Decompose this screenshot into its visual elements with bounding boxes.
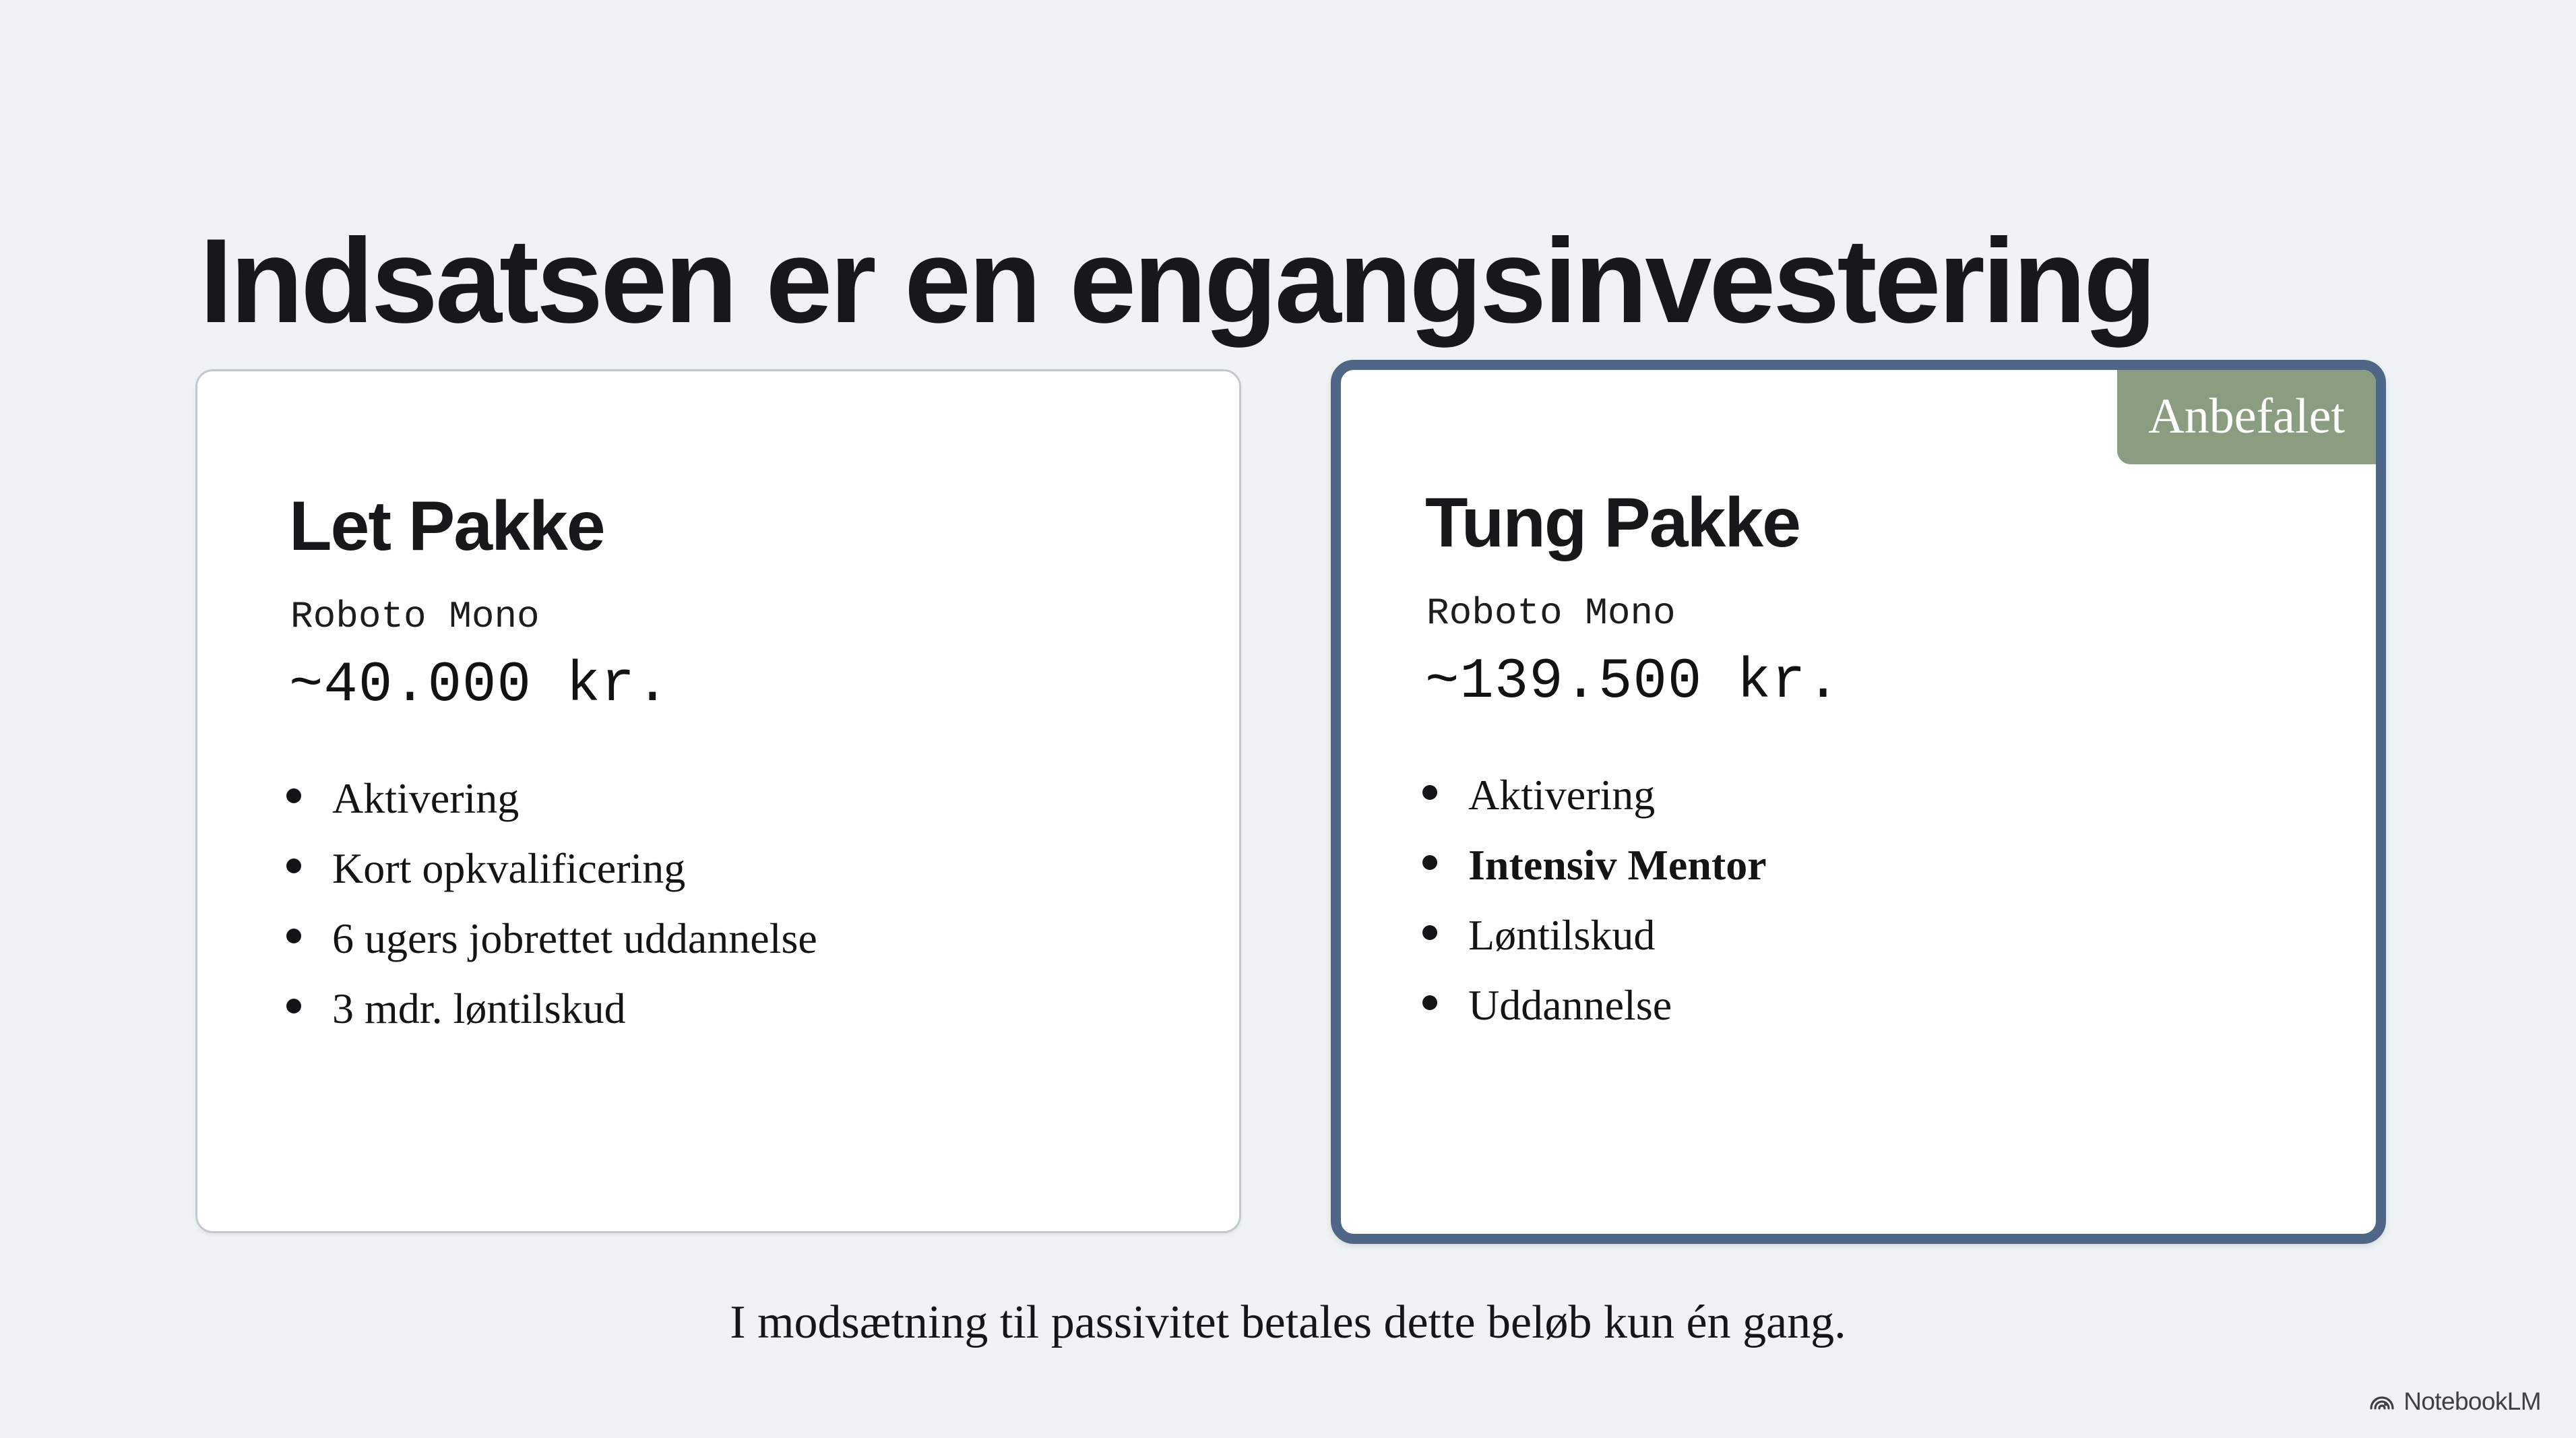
feature-label: Uddannelse <box>1468 984 1672 1027</box>
bullet-icon <box>286 999 301 1013</box>
pricing-card-tung-pakke[interactable]: Anbefalet Tung Pakke Roboto Mono ~139.50… <box>1331 360 2386 1244</box>
bullet-icon <box>286 929 301 943</box>
card-price: ~139.500 kr. <box>1425 654 1841 711</box>
bullet-icon <box>1422 785 1437 800</box>
list-item: Intensiv Mentor <box>1422 844 1767 887</box>
card-font-label: Roboto Mono <box>290 598 540 635</box>
card-price: ~40.000 kr. <box>289 658 670 714</box>
feature-label: Aktivering <box>332 777 519 820</box>
bullet-icon <box>286 858 301 873</box>
feature-label: 3 mdr. løntilskud <box>332 987 626 1030</box>
feature-label: Løntilskud <box>1468 914 1655 957</box>
list-item: Løntilskud <box>1422 914 1767 957</box>
footer-note: I modsætning til passivitet betales dett… <box>0 1299 2576 1346</box>
card-body: Tung Pakke Roboto Mono ~139.500 kr. Akti… <box>1341 370 2376 1234</box>
list-item: Aktivering <box>286 777 817 820</box>
watermark-label: NotebookLM <box>2404 1389 2541 1414</box>
feature-label: 6 ugers jobrettet uddannelse <box>332 917 817 960</box>
list-item: 3 mdr. løntilskud <box>286 987 817 1030</box>
feature-list: Aktivering Intensiv Mentor Løntilskud Ud… <box>1422 774 1767 1054</box>
slide-canvas: Indsatsen er en engangsinvestering Let P… <box>0 0 2576 1438</box>
list-item: 6 ugers jobrettet uddannelse <box>286 917 817 960</box>
bullet-icon <box>1422 855 1437 870</box>
feature-label: Kort opkvalificering <box>332 847 685 890</box>
notebooklm-watermark: NotebookLM <box>2369 1388 2541 1414</box>
list-item: Uddannelse <box>1422 984 1767 1027</box>
pricing-cards-row: Let Pakke Roboto Mono ~40.000 kr. Aktive… <box>0 0 2576 1438</box>
notebooklm-spiral-icon <box>2369 1388 2395 1414</box>
bullet-icon <box>286 788 301 803</box>
feature-label: Intensiv Mentor <box>1468 844 1767 887</box>
bullet-icon <box>1422 995 1437 1010</box>
feature-label: Aktivering <box>1468 774 1655 817</box>
card-body: Let Pakke Roboto Mono ~40.000 kr. Aktive… <box>197 371 1239 1231</box>
bullet-icon <box>1422 925 1437 940</box>
card-title: Let Pakke <box>289 491 604 561</box>
card-font-label: Roboto Mono <box>1426 594 1676 632</box>
feature-list: Aktivering Kort opkvalificering 6 ugers … <box>286 777 817 1057</box>
pricing-card-let-pakke[interactable]: Let Pakke Roboto Mono ~40.000 kr. Aktive… <box>195 369 1241 1233</box>
list-item: Kort opkvalificering <box>286 847 817 890</box>
card-title: Tung Pakke <box>1425 488 1800 558</box>
list-item: Aktivering <box>1422 774 1767 817</box>
